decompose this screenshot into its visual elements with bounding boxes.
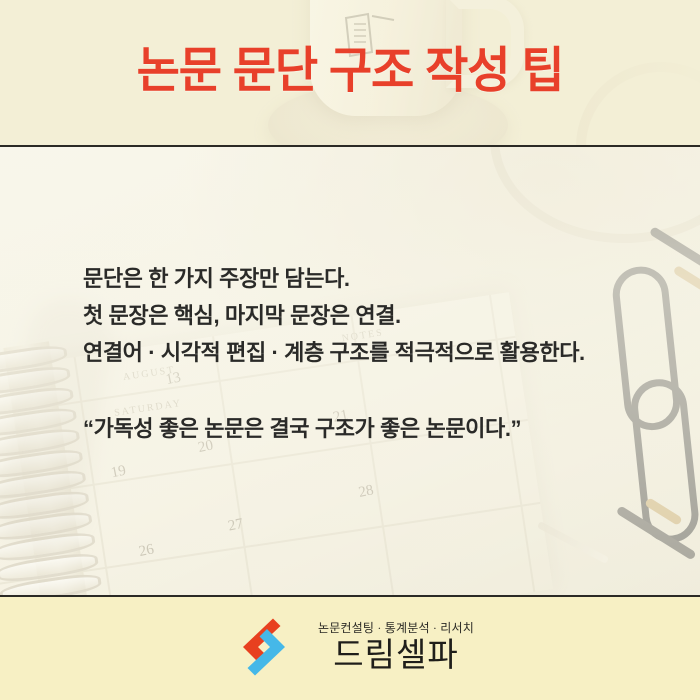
brand-text-block: 논문컨설팅 · 통계분석 · 리서치 드림셀파 [318, 619, 474, 675]
dreamsherpa-logo-icon [226, 611, 302, 683]
quote-text: “가독성 좋은 논문은 결국 구조가 좋은 논문이다.” [83, 412, 521, 446]
main-content: AUGUST NOTES SATURDAY 13 14 19 20 21 26 … [0, 147, 700, 596]
body-text-block: 문단은 한 가지 주장만 담는다. 첫 문장은 핵심, 마지막 문장은 연결. … [83, 260, 585, 371]
page-title: 논문 문단 구조 작성 팁 [14, 40, 686, 102]
brand-tagline: 논문컨설팅 · 통계분석 · 리서치 [318, 619, 474, 636]
body-line: 문단은 한 가지 주장만 담는다. [83, 260, 585, 297]
brand-lockup: 논문컨설팅 · 통계분석 · 리서치 드림셀파 [0, 611, 700, 683]
header-band: 논문 문단 구조 작성 팁 [0, 0, 700, 147]
body-line: 첫 문장은 핵심, 마지막 문장은 연결. [83, 297, 585, 334]
footer-band: 논문컨설팅 · 통계분석 · 리서치 드림셀파 [0, 597, 700, 700]
main-overlay-wash [0, 147, 700, 596]
body-line: 연결어 · 시각적 편집 · 계층 구조를 적극적으로 활용한다. [83, 334, 585, 371]
promo-card: 논문 문단 구조 작성 팁 AUGUST NOTES SATURDAY 13 1… [0, 0, 700, 700]
brand-name: 드림셀파 [333, 637, 458, 675]
